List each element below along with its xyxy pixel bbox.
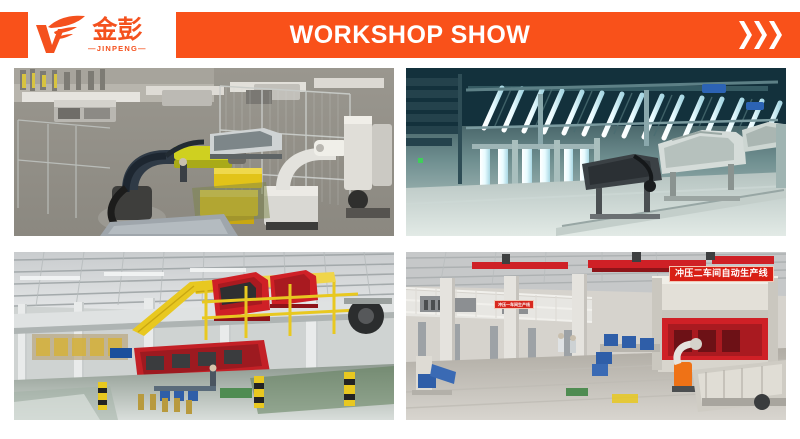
brand-name-cn: 金彭: [92, 17, 142, 42]
photo-robotic-welding-line-image: [14, 68, 394, 236]
brand-name-en: —JINPENG—: [88, 45, 147, 53]
chevron-arrows-group: [739, 21, 782, 49]
photo-assembly-hall[interactable]: [14, 252, 394, 420]
workshop-show-banner-page: WORKSHOP SHOW 金彭 —JINPENG—: [0, 0, 800, 439]
brand-logo-text: 金彭 —JINPENG—: [88, 17, 147, 53]
chevron-right-icon: [739, 21, 752, 49]
workshop-photo-grid: 冲压二车间自动生产线 冲压一车间生产线: [14, 68, 786, 420]
stamping-line-secondary-banner: 冲压一车间生产线: [494, 300, 534, 309]
stamping-line-banner: 冲压二车间自动生产线: [669, 266, 774, 282]
photo-robotic-welding-line[interactable]: [14, 68, 394, 236]
photo-assembly-hall-image: [14, 252, 394, 420]
brand-logo[interactable]: 金彭 —JINPENG—: [28, 12, 176, 58]
chevron-right-icon: [754, 21, 767, 49]
header-bar: WORKSHOP SHOW 金彭 —JINPENG—: [0, 12, 800, 58]
chevron-right-icon: [769, 21, 782, 49]
photo-paint-inspection-tunnel[interactable]: [406, 68, 786, 236]
photo-stamping-press-line[interactable]: 冲压二车间自动生产线 冲压一车间生产线: [406, 252, 786, 420]
photo-paint-inspection-tunnel-image: [406, 68, 786, 236]
v-wing-logo-icon: [34, 15, 86, 55]
